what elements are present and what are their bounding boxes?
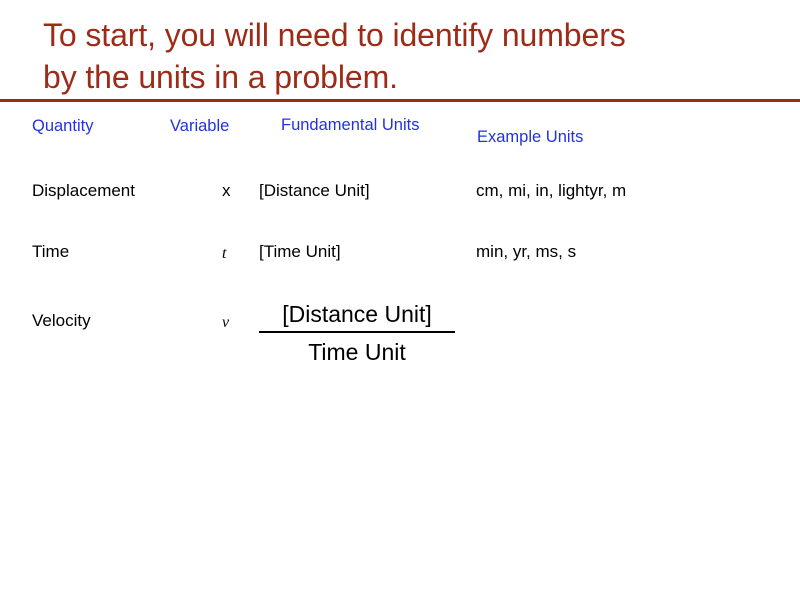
velocity-units-fraction: [Distance Unit] Time Unit xyxy=(259,298,455,368)
fraction-bar xyxy=(259,331,455,333)
table-row-quantity: Velocity xyxy=(32,310,91,332)
table-row-variable: v xyxy=(222,312,229,334)
table-row-variable: t xyxy=(222,243,226,265)
table-row-variable: x xyxy=(222,180,231,202)
table-row-fundamental-units: [Distance Unit] xyxy=(259,180,370,202)
fraction-numerator: [Distance Unit] xyxy=(259,298,455,330)
table-row-quantity: Displacement xyxy=(32,180,135,202)
table-row-quantity: Time xyxy=(32,241,69,263)
column-header-variable: Variable xyxy=(170,116,229,137)
table-row-example-units: cm, mi, in, lightyr, m xyxy=(476,180,626,202)
column-header-example-units: Example Units xyxy=(477,127,583,148)
column-header-quantity: Quantity xyxy=(32,116,93,137)
table-row-fundamental-units: [Time Unit] xyxy=(259,241,341,263)
column-header-fundamental-units: Fundamental Units xyxy=(281,115,431,136)
units-table: Quantity Variable Fundamental Units Exam… xyxy=(0,0,800,600)
table-row-example-units: min, yr, ms, s xyxy=(476,241,576,263)
fraction-denominator: Time Unit xyxy=(259,336,455,368)
slide-canvas: To start, you will need to identify numb… xyxy=(0,0,800,600)
